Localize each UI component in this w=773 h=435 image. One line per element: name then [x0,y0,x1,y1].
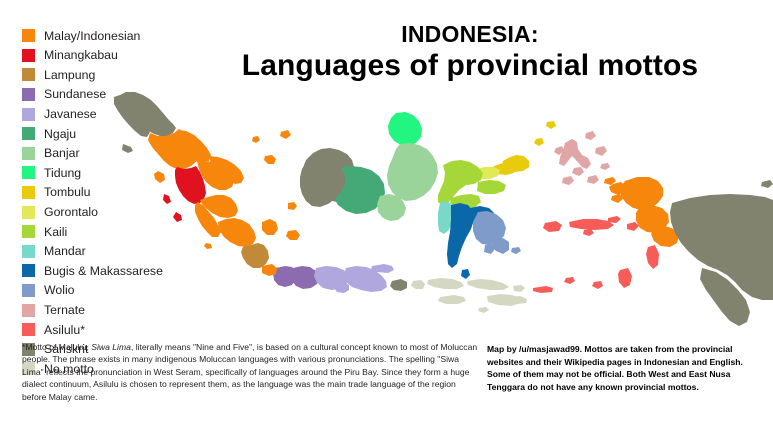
legend-item-kaili: Kaili [22,222,187,242]
region-maluku-islet-a [592,281,603,289]
region-maluku-seram [569,219,614,230]
legend-item-minangkabau: Minangkabau [22,46,187,66]
region-riau-islands-b [288,202,297,210]
region-north-maluku-f [587,175,599,184]
legend-swatch-icon [22,108,35,121]
legend-swatch-icon [22,29,35,42]
footnote-pre: *Motto of Maluku, [22,342,91,352]
legend-item-label: Javanese [44,108,97,120]
legend-swatch-icon [22,225,35,238]
legend-item-label: Banjar [44,147,80,159]
region-north-kalimantan [388,112,422,146]
region-rote [478,307,489,313]
legend-item-malay-indonesian: Malay/Indonesian [22,26,187,46]
region-jakarta [262,264,277,276]
legend-swatch-icon [22,206,35,219]
legend-item-label: Gorontalo [44,206,98,218]
legend-item-label: Tidung [44,167,81,179]
legend-swatch-icon [22,264,35,277]
legend-item-label: Mandar [44,245,86,257]
legend-item-label: Malay/Indonesian [44,30,140,42]
legend-item-lampung: Lampung [22,65,187,85]
legend-item-label: Tombulu [44,186,90,198]
legend-item-label: Minangkabau [44,49,118,61]
region-north-maluku-halmahera [559,139,591,169]
region-maluku-ambon [583,229,594,236]
legend-item-mandar: Mandar [22,242,187,262]
region-lombok [411,280,425,289]
region-north-maluku-e [562,176,574,185]
legend-swatch-icon [22,323,35,336]
legend-item-label: Lampung [44,69,95,81]
legend-swatch-icon [22,127,35,140]
region-sumba [438,295,466,304]
legend: Malay/Indonesian Minangkabau Lampung Sun… [22,26,187,379]
island-sangihe [534,138,544,146]
map-credit: Map by /u/masjawad99. Mottos are taken f… [487,343,759,394]
legend-item-tidung: Tidung [22,163,187,183]
legend-swatch-icon [22,304,35,317]
legend-item-label: Asilulu* [44,324,85,336]
legend-swatch-icon [22,49,35,62]
legend-swatch-icon [22,147,35,160]
region-maluku-aru [646,245,659,269]
map-infographic: INDONESIA: Languages of provincial motto… [0,0,773,435]
region-riau-islands-a [264,155,276,164]
footnote-italic-term: Siwa Lima [91,342,131,352]
legend-swatch-icon [22,88,35,101]
legend-item-ngaju: Ngaju [22,124,187,144]
region-bali [390,279,407,291]
legend-item-label: Kaili [44,226,67,238]
region-maluku-kai [627,222,639,231]
region-bangka [262,219,278,235]
island-png-a [761,180,773,188]
island-selayar [461,269,470,279]
legend-swatch-icon [22,245,35,258]
island-wetar [533,286,553,293]
region-sumbawa [427,278,464,289]
island-wakatobi [511,247,521,254]
legend-item-banjar: Banjar [22,144,187,164]
region-east-kalimantan [387,143,438,201]
legend-swatch-icon [22,166,35,179]
region-maluku-islet-c [608,216,621,223]
region-north-maluku-g [600,163,610,170]
legend-item-tombulu: Tombulu [22,183,187,203]
legend-swatch-icon [22,284,35,297]
region-west-papua [620,177,663,210]
island-talaud [546,121,556,129]
region-belitung [286,230,300,240]
region-lampung [241,243,269,268]
footnote-asilulu: *Motto of Maluku, Siwa Lima, literally m… [22,341,480,403]
island-natuna [280,130,291,139]
region-maluku-tanimbar [618,268,632,288]
legend-item-label: Ngaju [44,128,76,140]
island-buton [492,238,509,254]
legend-item-wolio: Wolio [22,281,187,301]
legend-item-asilulu: Asilulu* [22,320,187,340]
legend-item-label: Sundanese [44,88,106,100]
island-enggano [204,243,212,249]
region-north-maluku-b [585,131,596,140]
region-maluku-buru [543,221,562,232]
legend-swatch-icon [22,68,35,81]
legend-item-ternate: Ternate [22,300,187,320]
region-north-maluku-c [572,167,584,176]
legend-item-label: Bugis & Makassarese [44,265,163,277]
region-south-sumatra [218,218,256,247]
region-alor [513,285,525,292]
region-maluku-islet-b [564,277,575,284]
legend-item-javanese: Javanese [22,104,187,124]
region-yogyakarta [334,282,349,293]
legend-item-sundanese: Sundanese [22,85,187,105]
region-riau-islands-c [252,136,260,143]
legend-item-label: Wolio [44,284,75,296]
legend-swatch-icon [22,186,35,199]
region-north-maluku-d [595,146,607,156]
legend-item-gorontalo: Gorontalo [22,202,187,222]
region-central-sulawesi-east [477,180,506,194]
legend-item-label: Ternate [44,304,85,316]
region-flores [467,279,509,290]
legend-item-bugis-makassarese: Bugis & Makassarese [22,261,187,281]
